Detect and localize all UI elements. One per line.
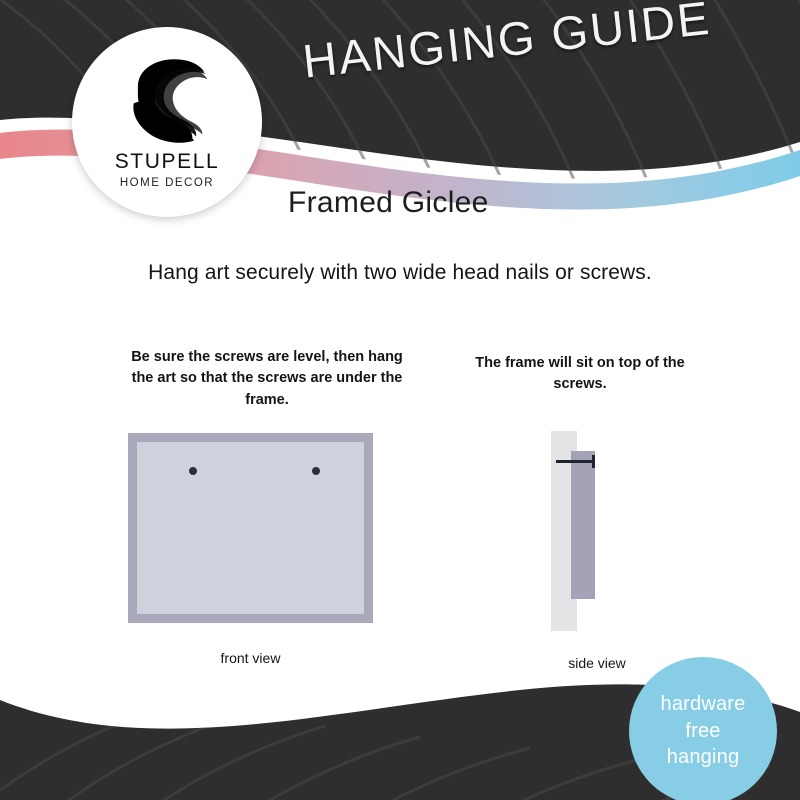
front-view-diagram xyxy=(128,433,373,623)
hanging-guide-page: STUPELL HOME DECOR HANGING GUIDE Framed … xyxy=(0,0,800,800)
stupell-swoosh-logo-icon xyxy=(115,45,219,149)
screw-dot-right xyxy=(312,467,320,475)
brand-tagline: HOME DECOR xyxy=(120,177,214,189)
frame-profile xyxy=(571,451,595,599)
nail-head-icon xyxy=(592,455,595,468)
front-view-caption: Be sure the screws are level, then hang … xyxy=(122,347,412,411)
product-type-heading: Framed Giclee xyxy=(288,186,489,220)
hardware-free-hanging-badge: hardware free hanging xyxy=(629,657,777,800)
page-title: HANGING GUIDE xyxy=(300,0,713,89)
side-view-caption: The frame will sit on top of the screws. xyxy=(455,353,705,396)
screw-dot-left xyxy=(189,467,197,475)
badge-line-1: hardware xyxy=(661,691,746,718)
side-view-diagram xyxy=(551,431,647,631)
front-view-label: front view xyxy=(128,650,373,666)
nail-side-profile-icon xyxy=(556,460,595,463)
badge-line-3: hanging xyxy=(667,744,740,771)
badge-line-2: free xyxy=(685,718,720,745)
brand-name: STUPELL xyxy=(115,150,220,174)
frame-mat xyxy=(137,442,364,614)
brand-logo-badge: STUPELL HOME DECOR xyxy=(72,27,262,217)
lead-instruction: Hang art securely with two wide head nai… xyxy=(0,261,800,285)
